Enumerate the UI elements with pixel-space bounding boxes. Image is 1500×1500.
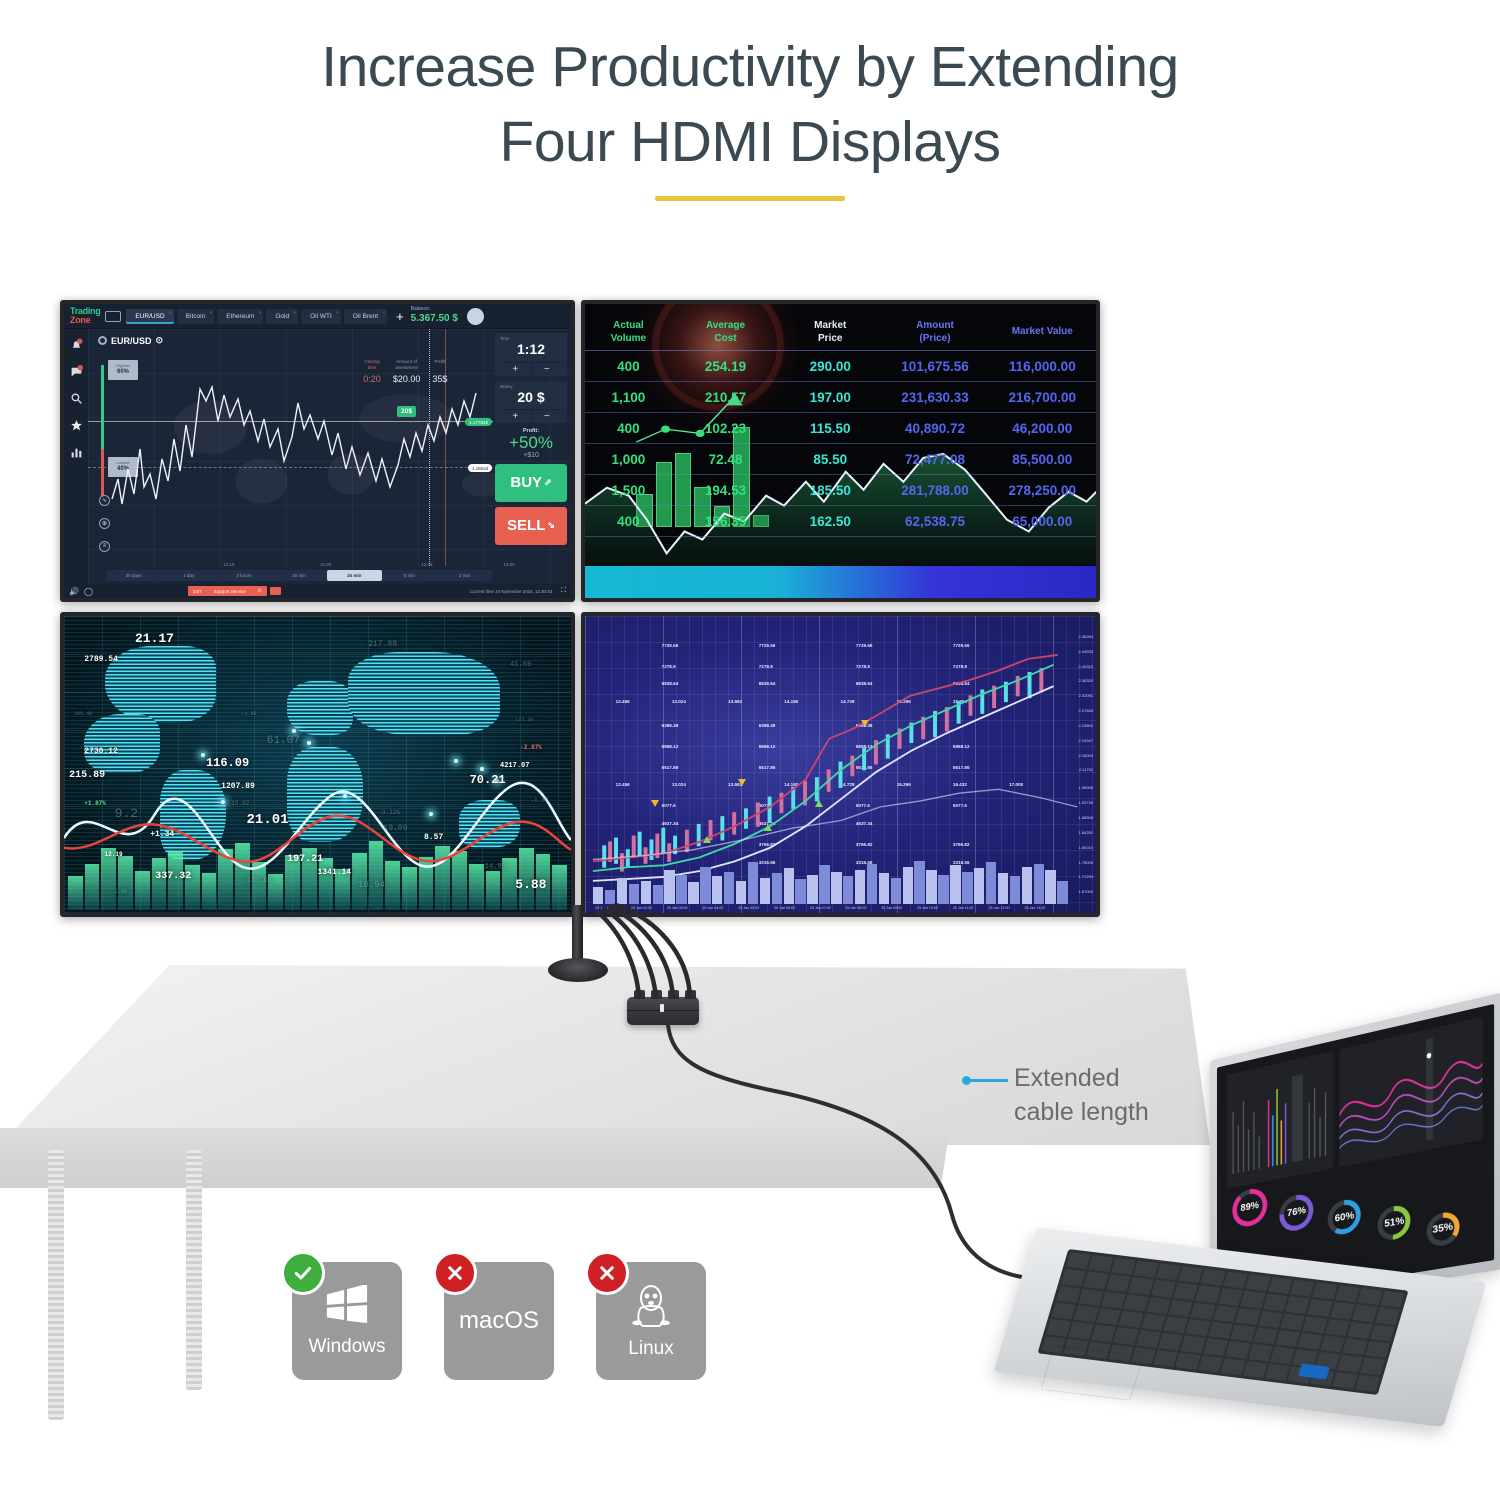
os-card-linux: Linux [596, 1262, 706, 1380]
status-badge-unsupported [433, 1251, 477, 1295]
desk-leg [48, 1150, 64, 1420]
closing-time-column: Closing time 0:20 [363, 359, 381, 384]
cell-average-cost: 102.23 [672, 421, 779, 436]
x-axis-tick: 25 Jan 06:00 [774, 906, 795, 910]
map-value: 135.65 [247, 877, 272, 885]
headline-underline-rule [655, 196, 845, 201]
chat-icon[interactable] [70, 365, 83, 378]
cell-average-cost: 194.53 [672, 483, 779, 498]
trading-status-bar: 🔊 ◯ 24/7 Support Service ✆ Current time … [64, 584, 571, 598]
candlestick-chart-screen: 7729.56 7729.56 7729.56 7729.56 7278.9 7… [585, 616, 1096, 913]
headline-line-1: Increase Productivity by Extending [0, 30, 1500, 105]
map-value: +1.87% [84, 800, 106, 807]
logo-line-2: Zone [70, 315, 90, 325]
map-value: 8.57 [424, 833, 443, 842]
cell-actual-volume: 400 [585, 421, 672, 436]
sell-signal-marker [861, 720, 869, 727]
cell-market-price: 85.50 [779, 452, 881, 467]
host-laptop: 89% $43,500 76% $37,560 60% 51% 35% [995, 1020, 1500, 1450]
map-value: 4217.07 [500, 762, 529, 770]
os-compatibility-row: Windows macOS Linux [292, 1262, 706, 1380]
star-icon[interactable] [70, 419, 83, 432]
sell-arrow-icon: ⇘ [547, 520, 555, 531]
map-value: 9.2 [115, 806, 138, 821]
add-tab-button[interactable]: + [396, 309, 404, 324]
monitor-stand-base [548, 958, 608, 982]
timeframe-selector: 30 days 1 day 3 hours 30 min 15 min 5 mi… [106, 570, 492, 581]
market-data-table: ActualVolume AverageCost MarketPrice Amo… [585, 304, 1096, 598]
trading-platform-screen: Trading Zone EUR/USD× Bitcoin× Ethereum× [64, 304, 571, 598]
chart-type-icon[interactable]: ∿ [99, 495, 110, 506]
col-amount-price: Amount(Price) [881, 320, 988, 345]
x-axis-tick: 25 Jan 02:00 [631, 906, 652, 910]
cell-actual-volume: 1,500 [585, 483, 672, 498]
map-value: 19.09 [383, 824, 407, 833]
kpi-donut-value: 51% [1383, 1209, 1406, 1236]
col-average-cost: AverageCost [672, 320, 779, 345]
cell-market-price: 162.50 [779, 514, 881, 529]
level-price-pill: 1.18mid [468, 464, 492, 472]
money-value: 20 $ [500, 389, 562, 407]
map-value: 18.94 [358, 880, 385, 890]
phone-icon[interactable]: ✆ [258, 588, 262, 594]
trade-info-header: Closing time 0:20 Amount of investment $… [363, 359, 447, 384]
balance-display: Balance: 5.367.50 $ [411, 307, 458, 324]
x-axis-tick: 25 Jan 07:00 [810, 906, 831, 910]
support-badge: 24/7 [193, 589, 202, 594]
kpi-donut: 76% [1280, 1191, 1314, 1233]
laptop-panel-bars [1227, 1051, 1333, 1189]
status-badge-unsupported [585, 1251, 629, 1295]
x-axis-tick: 25 Jan 05:00 [738, 906, 759, 910]
x-axis-tick: 25 Jan 03:00 [667, 906, 688, 910]
windows-logo-icon [324, 1285, 370, 1329]
cell-amount-price: 40,890.72 [881, 421, 988, 436]
tab-eurusd[interactable]: EUR/USD× [126, 309, 173, 324]
map-value: 61.07 [267, 735, 300, 747]
trading-zone-logo: Trading Zone [70, 307, 100, 325]
chart-icon[interactable] [70, 446, 83, 459]
cell-amount-price: 281,788.00 [881, 483, 988, 498]
timeframe-5-min[interactable]: 5 min [382, 570, 437, 581]
kpi-donut-value: 35% [1431, 1216, 1454, 1242]
support-label: Support Service [214, 589, 246, 594]
map-value: -1.90 [241, 711, 256, 717]
trading-topbar: Trading Zone EUR/USD× Bitcoin× Ethereum× [64, 304, 571, 329]
desk-leg [186, 1150, 202, 1390]
profit-percent: +50% [495, 434, 567, 452]
close-icon[interactable]: × [169, 310, 172, 315]
trading-sidebar [64, 329, 88, 584]
map-value: -1.89 [530, 797, 548, 804]
os-label: Windows [308, 1336, 385, 1358]
map-value: 337.32 [155, 871, 191, 882]
quad-monitor-array: Trading Zone EUR/USD× Bitcoin× Ethereum× [60, 300, 1105, 920]
headline-line-2: Four HDMI Displays [0, 105, 1500, 180]
cell-average-cost: 72.48 [672, 452, 779, 467]
cell-market-value: 278,250.00 [989, 483, 1096, 498]
x-axis-tick: 25 Jan 09:00 [881, 906, 902, 910]
table-row: 1,500 194.53 185.50 281,788.00 278,250.0… [585, 475, 1096, 506]
current-time-status: Current time 24 November 2016, 12:30:43 [470, 589, 552, 594]
map-value: 197.21 [287, 854, 323, 865]
tab-oil-brent[interactable]: Oil Brent× [344, 309, 387, 324]
laptop-bar-chart [1227, 1051, 1333, 1189]
kpi-donut-value: 89% [1237, 1191, 1263, 1223]
laptop-wave-chart [1339, 1017, 1482, 1167]
trade-control-panel: Time 1:12 + − Money 20 $ + − Profit: [495, 333, 567, 545]
time-decrease-button[interactable]: − [532, 363, 563, 376]
map-value: 19.02 [231, 800, 249, 807]
monitor-top-right: ActualVolume AverageCost MarketPrice Amo… [581, 300, 1100, 602]
instrument-tabs: EUR/USD× Bitcoin× Ethereum× Gold× Oil WT… [126, 309, 387, 324]
monitor-bottom-left: 21.17 2789.54 217.88 41.69 205.48 -1.90 … [60, 612, 575, 917]
time-increase-button[interactable]: + [500, 363, 532, 376]
tab-ethereum[interactable]: Ethereum× [217, 309, 263, 324]
market-data-table-screen: ActualVolume AverageCost MarketPrice Amo… [585, 304, 1096, 598]
support-service-widget[interactable]: 24/7 Support Service ✆ [188, 586, 281, 596]
time-value: 1:12 [500, 341, 562, 359]
axis-time-label: 13:00 [503, 562, 514, 567]
time-control: Time 1:12 + − [495, 333, 567, 376]
map-value: 41.69 [510, 661, 531, 669]
sell-button[interactable]: SELL ⇘ [495, 507, 567, 545]
map-value: 1207.89 [221, 782, 255, 791]
table-row: 1,000 72.48 85.50 72,477.08 85,500.00 [585, 444, 1096, 475]
col-actual-volume: ActualVolume [585, 320, 672, 345]
cell-average-cost: 210.57 [672, 390, 779, 405]
laptop-panel-waves [1339, 1017, 1482, 1167]
buy-button[interactable]: BUY ⇗ [495, 464, 567, 502]
check-icon [293, 1263, 313, 1283]
kpi-donut-value: 76% [1284, 1197, 1309, 1227]
axis-time-label: 12:30 [320, 562, 331, 567]
status-badge-supported [281, 1251, 325, 1295]
cell-average-cost: 254.19 [672, 359, 779, 374]
money-increase-button[interactable]: + [500, 410, 532, 423]
buy-signal-marker [815, 800, 823, 807]
trade-amount-badge: 20$ [397, 406, 416, 417]
map-value: 21.17 [135, 631, 174, 646]
hdmi-mst-hub[interactable] [627, 997, 699, 1025]
monitor-icon[interactable] [105, 311, 121, 322]
linux-penguin-icon [629, 1283, 673, 1331]
volume-icon[interactable]: 🔊 [69, 587, 79, 596]
close-icon [446, 1264, 464, 1282]
close-icon[interactable]: × [210, 310, 213, 315]
tab-oil-wti[interactable]: Oil WTI× [301, 309, 341, 324]
x-axis-tick: 25 Jan 12:00 [989, 906, 1010, 910]
indicator-icon[interactable]: ⊕ [99, 518, 110, 529]
page-headline: Increase Productivity by Extending Four … [0, 30, 1500, 201]
chart-menu-icon[interactable]: ≡ [99, 541, 110, 552]
col-market-price: MarketPrice [779, 320, 881, 345]
x-axis-tick: 25 Jan 01:00 [595, 906, 616, 910]
cell-amount-price: 101,675.56 [881, 359, 988, 374]
close-icon[interactable]: × [382, 310, 385, 315]
x-axis-tick: 25 Jan 04:00 [703, 906, 724, 910]
hdmi-port [634, 990, 645, 999]
map-value: +1.34 [150, 830, 174, 839]
close-icon[interactable]: × [259, 310, 262, 315]
hdmi-port [685, 990, 696, 999]
balance-value: 5.367.50 $ [411, 313, 458, 325]
desk-front-edge [0, 1128, 950, 1188]
kpi-donut: 60% [1328, 1197, 1361, 1237]
os-card-macos: macOS [444, 1262, 554, 1380]
map-value: 215.89 [69, 770, 105, 781]
cell-amount-price: 72,477.08 [881, 452, 988, 467]
map-value: -2.87% [520, 744, 542, 751]
hdmi-port [668, 990, 679, 999]
buy-arrow-icon: ⇗ [544, 477, 552, 488]
map-value: 1341.14 [318, 868, 352, 877]
volume-bar-series [593, 827, 1068, 904]
cell-market-value: 65,000.00 [989, 514, 1096, 529]
timeframe-1-day[interactable]: 1 day [161, 570, 216, 581]
close-icon [598, 1264, 616, 1282]
table-row: 1,100 210.57 197.00 231,630.33 216,700.0… [585, 382, 1096, 413]
money-control: Money 20 $ + − [495, 381, 567, 424]
table-header-row: ActualVolume AverageCost MarketPrice Amo… [585, 315, 1096, 351]
kpi-donut: 35% [1426, 1210, 1459, 1248]
cell-actual-volume: 1,000 [585, 452, 672, 467]
map-value: 205.48 [74, 711, 92, 717]
cell-actual-volume: 400 [585, 514, 672, 529]
cell-market-value: 46,200.00 [989, 421, 1096, 436]
cell-market-value: 216,700.00 [989, 390, 1096, 405]
fullscreen-icon[interactable]: ⛶ [561, 587, 566, 595]
map-value: 21.01 [247, 812, 289, 828]
map-value: 70.21 [470, 773, 506, 787]
cell-amount-price: 62,538.75 [881, 514, 988, 529]
map-value: 2730.12 [84, 747, 118, 756]
map-value: 14.99 [485, 863, 506, 871]
map-value: 1.45 [115, 889, 127, 895]
kpi-donut: 89% [1232, 1186, 1267, 1229]
cell-market-value: 85,500.00 [989, 452, 1096, 467]
investment-amount-column: Amount of investment $20.00 [393, 359, 421, 384]
search-icon[interactable] [70, 392, 83, 405]
cell-market-price: 185.50 [779, 483, 881, 498]
map-value: 173.38 [515, 717, 533, 723]
monitor-top-left: Trading Zone EUR/USD× Bitcoin× Ethereum× [60, 300, 575, 602]
support-pill[interactable]: 24/7 Support Service ✆ [188, 586, 267, 596]
table-row: 400 102.23 115.50 40,890.72 46,200.00 [585, 413, 1096, 444]
close-icon[interactable]: × [293, 310, 296, 315]
table-row: 400 254.19 290.00 101,675.56 116,000.00 [585, 351, 1096, 382]
notification-icon[interactable] [70, 338, 83, 351]
x-axis-tick: 25 Jan 10:00 [917, 906, 938, 910]
tab-gold[interactable]: Gold× [266, 309, 298, 324]
hub-led-icon [660, 1004, 664, 1012]
record-icon[interactable]: ◯ [84, 587, 93, 596]
cell-market-price: 290.00 [779, 359, 881, 374]
axis-time-label: 12:45 [421, 562, 432, 567]
timeframe-30-days[interactable]: 30 days [106, 570, 161, 581]
sell-signal-marker [651, 800, 659, 807]
os-label: macOS [459, 1307, 539, 1335]
tab-bitcoin[interactable]: Bitcoin× [177, 309, 215, 324]
timeframe-30-min[interactable]: 30 min [271, 570, 326, 581]
laptop-trackpad[interactable] [1040, 1345, 1143, 1400]
cell-market-price: 197.00 [779, 390, 881, 405]
close-icon[interactable]: × [336, 310, 339, 315]
profit-amount: +$10 [495, 452, 567, 459]
monitor-bottom-right: 7729.56 7729.56 7729.56 7729.56 7278.9 7… [581, 612, 1100, 917]
map-value: 2789.54 [84, 655, 118, 664]
col-market-value: Market Value [989, 326, 1096, 339]
x-axis-tick: 25 Jan 11:00 [953, 906, 974, 910]
map-value: -3.12% [378, 809, 400, 816]
cell-market-price: 115.50 [779, 421, 881, 436]
mail-icon[interactable] [270, 587, 281, 595]
world-map-dashboard-screen: 21.17 2789.54 217.88 41.69 205.48 -1.90 … [64, 616, 571, 913]
hdmi-port [651, 990, 662, 999]
cell-average-cost: 156.35 [672, 514, 779, 529]
money-decrease-button[interactable]: − [532, 410, 563, 423]
sell-signal-marker [738, 779, 746, 786]
timeframe-3-hours[interactable]: 3 hours [216, 570, 271, 581]
table-row: 400 156.35 162.50 62,538.75 65,000.00 [585, 506, 1096, 537]
x-axis-tick: 25 Jan 08:00 [846, 906, 867, 910]
cell-market-value: 116,000.00 [989, 359, 1096, 374]
axis-time-label: 12:15 [223, 562, 234, 567]
map-value: 5.88 [515, 877, 546, 892]
cell-actual-volume: 400 [585, 359, 672, 374]
kpi-donut: 51% [1378, 1203, 1411, 1242]
os-label: Linux [628, 1338, 673, 1360]
timeframe-15-min[interactable]: 15 min [327, 570, 382, 581]
cell-actual-volume: 1,100 [585, 390, 672, 405]
cell-amount-price: 231,630.33 [881, 390, 988, 405]
avatar[interactable] [467, 308, 484, 325]
map-value: 217.88 [368, 640, 397, 649]
x-axis-tick: 25 Jan 13:00 [1024, 906, 1045, 910]
map-value: 116.09 [206, 756, 249, 770]
money-stepper: + − [500, 409, 562, 423]
timeframe-2-min[interactable]: 2 min [437, 570, 492, 581]
current-price-pill: 1.17784$ [465, 418, 492, 426]
os-card-windows: Windows [292, 1262, 402, 1380]
time-stepper: + − [500, 362, 562, 376]
profit-column: Profit 35$ [432, 359, 447, 384]
kpi-donut-value: 60% [1333, 1203, 1356, 1231]
map-value: 12.19 [105, 851, 123, 858]
